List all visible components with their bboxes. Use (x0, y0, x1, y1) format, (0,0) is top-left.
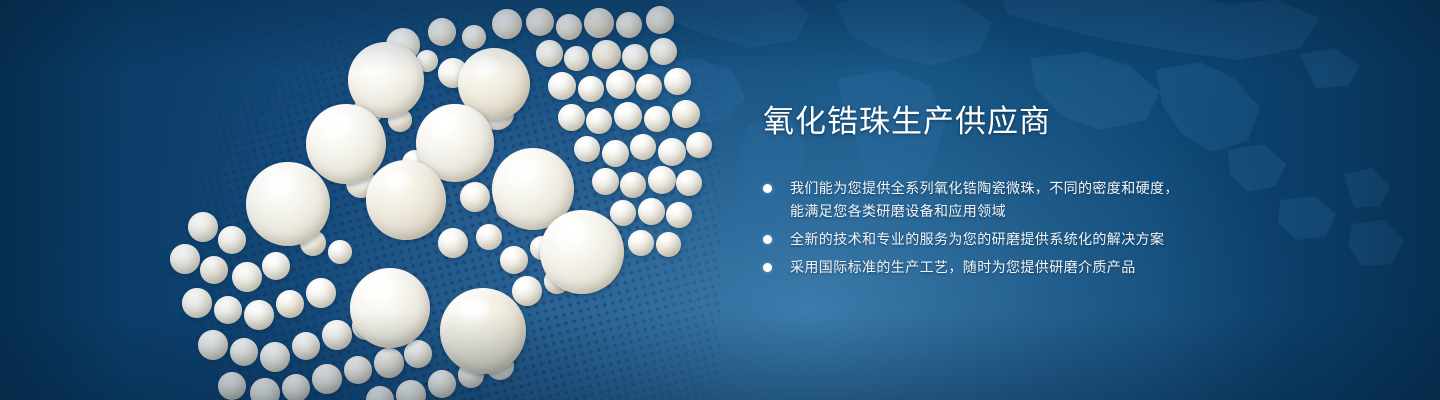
hero-banner: 氧化锆珠生产供应商 我们能为您提供全系列氧化锆陶瓷微珠，不同的密度和硬度， 能满… (0, 0, 1440, 400)
banner-content: 氧化锆珠生产供应商 我们能为您提供全系列氧化锆陶瓷微珠，不同的密度和硬度， 能满… (763, 104, 1233, 284)
bullet-dot-icon (763, 184, 772, 193)
feature-list: 我们能为您提供全系列氧化锆陶瓷微珠，不同的密度和硬度， 能满足您各类研磨设备和应… (763, 177, 1233, 279)
list-item: 我们能为您提供全系列氧化锆陶瓷微珠，不同的密度和硬度， 能满足您各类研磨设备和应… (763, 177, 1233, 223)
list-item-line-1: 采用国际标准的生产工艺，随时为您提供研磨介质产品 (790, 259, 1136, 275)
bullet-dot-icon (763, 263, 772, 272)
list-item: 采用国际标准的生产工艺，随时为您提供研磨介质产品 (763, 256, 1233, 279)
page-title: 氧化锆珠生产供应商 (763, 104, 1233, 141)
list-item-line-1: 我们能为您提供全系列氧化锆陶瓷微珠，不同的密度和硬度， (790, 180, 1179, 196)
list-item-line-2: 能满足您各类研磨设备和应用领域 (790, 200, 1233, 223)
list-item: 全新的技术和专业的服务为您的研磨提供系统化的解决方案 (763, 228, 1233, 251)
bullet-dot-icon (763, 235, 772, 244)
list-item-line-1: 全新的技术和专业的服务为您的研磨提供系统化的解决方案 (790, 231, 1164, 247)
